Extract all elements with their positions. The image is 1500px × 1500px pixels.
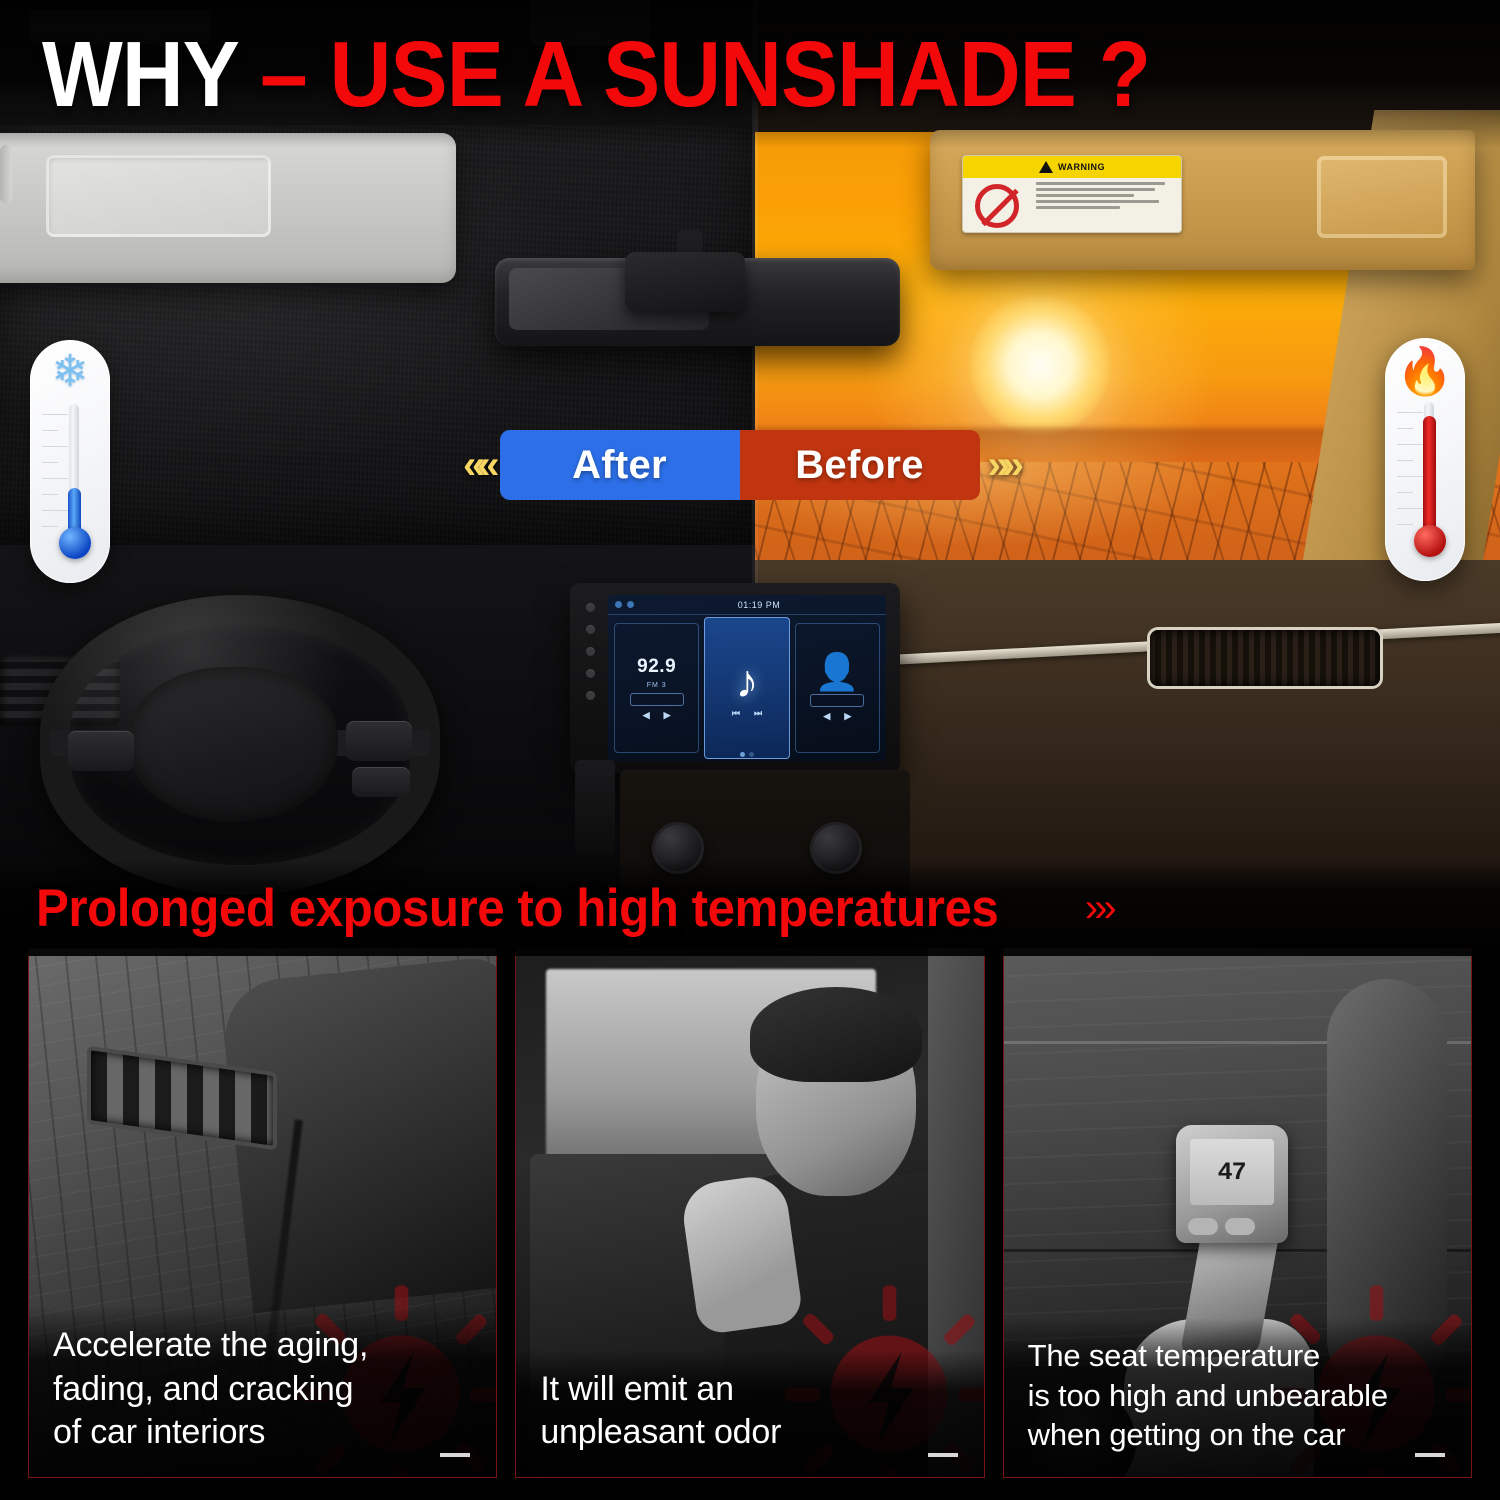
home-key[interactable] [586,625,595,634]
rear-view-mirror [495,258,900,346]
power-key[interactable] [586,603,595,612]
music-forward-icon[interactable]: ⏭ [754,708,762,719]
radio-frequency: 92.9 [637,656,676,678]
infotainment-head-unit[interactable]: 01:19 PM 92.9 FM 3 ◀ ▶ ♪ [570,583,900,773]
card-seat-temperature: 47 [1003,948,1472,1478]
airbag-warning-label: WARNING [962,155,1182,233]
warning-text-lines [1031,178,1181,233]
profile-next-icon[interactable]: ▶ [844,711,851,722]
page-indicator [740,752,754,757]
caption-line: Accelerate the aging, [53,1324,476,1368]
music-controls[interactable]: ⏮ ⏭ [732,708,762,719]
steering-hub-airbag [128,667,338,822]
card-unpleasant-odor: It will emit an unpleasant odor [515,948,984,1478]
steering-wheel [40,595,440,895]
caption-line: The seat temperature [1028,1336,1451,1376]
page-title: WHY – USE A SUNSHADE ? [42,28,1150,121]
profile-controls[interactable]: ◀ ▶ [823,711,851,722]
left-chevrons-icon: «« [455,443,500,488]
visor-mirror-right [1317,156,1447,238]
card-caption: The seat temperature is too high and unb… [1004,1318,1471,1477]
thermometer-bulb-hot [1414,525,1446,557]
radio-band: FM 3 [647,682,667,689]
thermometer-display: 47 [1190,1139,1274,1205]
title-rest: – USE A SUNSHADE ? [260,22,1150,126]
head-unit-mount [575,760,615,855]
caption-line: fading, and cracking [53,1368,476,1412]
caption-line: It will emit an [540,1368,963,1412]
steering-button-left[interactable] [68,731,134,771]
sun-disc-icon [970,295,1110,435]
warning-body [963,178,1181,233]
warning-heading-text: WARNING [1058,162,1105,172]
headline-bar: WHY – USE A SUNSHADE ? [0,0,1500,148]
visor-mirror-cover [46,155,271,237]
hot-thermometer: 🔥 [1385,338,1465,581]
dashcam [625,252,745,312]
caption-line: of car interiors [53,1411,476,1455]
title-word-why: WHY [42,22,237,126]
caption-underscore [440,1453,470,1457]
music-note-icon: ♪ [735,658,758,704]
radio-preset-pill[interactable] [630,693,684,706]
prohibition-circle [975,184,1019,228]
caption-underscore [1415,1453,1445,1457]
right-chevrons-icon: »» [980,443,1025,488]
radio-card[interactable]: 92.9 FM 3 ◀ ▶ [614,623,699,753]
signal-icon [627,601,634,608]
flame-icon: 🔥 [1385,348,1465,394]
caption-line: is too high and unbearable [1028,1376,1451,1416]
bluetooth-icon [615,601,622,608]
sun-visor-left [0,133,456,283]
nav-key[interactable] [586,669,595,678]
infotainment-screen[interactable]: 01:19 PM 92.9 FM 3 ◀ ▶ ♪ [608,595,886,761]
cold-thermometer: ❄ [30,340,110,583]
air-vent-right [1150,630,1380,686]
radio-prev-icon[interactable]: ◀ [643,710,650,721]
steering-button-right[interactable] [346,721,412,761]
benefit-cards: Accelerate the aging, fading, and cracki… [0,948,1500,1500]
profile-prev-icon[interactable]: ◀ [823,711,830,722]
caption-line: when getting on the car [1028,1415,1451,1455]
after-badge[interactable]: After [500,430,740,500]
before-badge[interactable]: Before [740,430,980,500]
radio-controls[interactable]: ◀ ▶ [643,710,671,721]
caption-underscore [928,1453,958,1457]
steering-button-right-2[interactable] [352,767,410,797]
media-key[interactable] [586,647,595,656]
thermometer-buttons[interactable] [1188,1218,1255,1235]
man-hair [750,987,922,1082]
visor-slot [0,145,12,203]
no-child-seat-icon [963,178,1031,233]
snowflake-icon: ❄ [30,350,110,394]
warning-header: WARNING [963,156,1181,178]
infrared-thermometer-gun: 47 [1176,1125,1288,1243]
caption-line: unpleasant odor [540,1411,963,1455]
seat-setting-pill[interactable] [810,694,864,707]
thermometer-reading: 47 [1218,1158,1246,1187]
thermometer-bulb-cold [59,527,91,559]
mid-banner-text: Prolonged exposure to high temperatures [36,878,998,939]
person-icon: 👤 [815,654,860,690]
music-rewind-icon[interactable]: ⏮ [732,708,740,719]
profile-card[interactable]: 👤 ◀ ▶ [795,623,880,753]
radio-next-icon[interactable]: ▶ [664,710,671,721]
clock-label: 01:19 PM [639,600,879,610]
music-card[interactable]: ♪ ⏮ ⏭ [704,617,789,759]
screen-cards: 92.9 FM 3 ◀ ▶ ♪ ⏮ ⏭ [608,615,886,761]
sun-visor-right: WARNING [930,130,1475,270]
warning-triangle-icon [1039,161,1053,173]
card-aging-interiors: Accelerate the aging, fading, and cracki… [28,948,497,1478]
card-caption: It will emit an unpleasant odor [516,1350,983,1477]
mid-banner: Prolonged exposure to high temperatures … [0,860,1500,956]
mid-banner-chevrons-icon: ››› [1085,886,1113,931]
before-after-toggle[interactable]: «« After Before »» [455,430,1024,500]
product-infographic: WARNING [0,0,1500,1500]
status-bar: 01:19 PM [608,595,886,615]
menu-key[interactable] [586,691,595,700]
card-caption: Accelerate the aging, fading, and cracki… [29,1306,496,1477]
head-unit-side-keys[interactable] [580,603,600,700]
